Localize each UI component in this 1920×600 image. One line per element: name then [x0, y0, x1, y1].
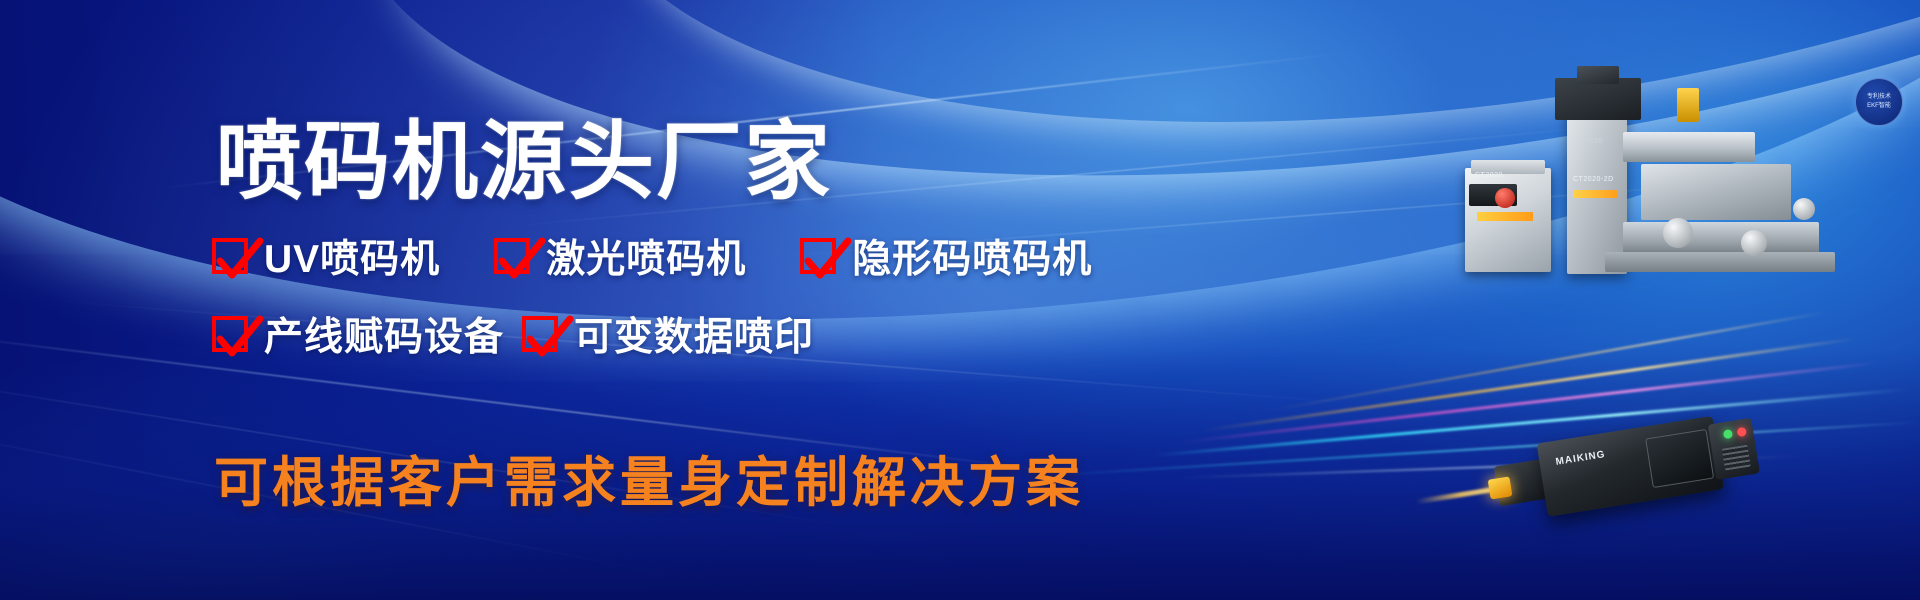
feature-row-1: UV喷码机 激光喷码机 隐形码喷	[212, 228, 1092, 284]
checkbox-checked-icon	[494, 238, 530, 274]
page-title: 喷码机源头厂家	[216, 116, 832, 209]
feature-label: 激光喷码机	[546, 228, 746, 284]
banner-content: 喷码机源头厂家 UV喷码机	[0, 0, 1920, 600]
feature-label: 产线赋码设备	[264, 306, 504, 362]
checkbox-checked-icon	[522, 316, 558, 352]
checkbox-checked-icon	[212, 238, 248, 274]
feature-label: UV喷码机	[264, 228, 440, 284]
checkbox-checked-icon	[800, 238, 836, 274]
feature-label: 隐形码喷码机	[852, 228, 1092, 284]
feature-item-laser-printer: 激光喷码机	[494, 228, 746, 284]
checkbox-checked-icon	[212, 316, 248, 352]
feature-item-variable-data-printing: 可变数据喷印	[522, 306, 814, 362]
feature-list: UV喷码机 激光喷码机 隐形码喷	[212, 228, 1092, 362]
feature-item-production-line-coding: 产线赋码设备	[212, 306, 504, 362]
promotional-banner: CT2020 CT2020-2D CT3030 专利技术 EKF智能 MAIKI…	[0, 0, 1920, 600]
feature-row-2: 产线赋码设备 可变数据喷印	[212, 306, 1092, 362]
feature-item-uv-printer: UV喷码机	[212, 228, 440, 284]
feature-label: 可变数据喷印	[574, 306, 814, 362]
tagline: 可根据客户需求量身定制解决方案	[214, 438, 1084, 517]
feature-item-invisible-code-printer: 隐形码喷码机	[800, 228, 1092, 284]
